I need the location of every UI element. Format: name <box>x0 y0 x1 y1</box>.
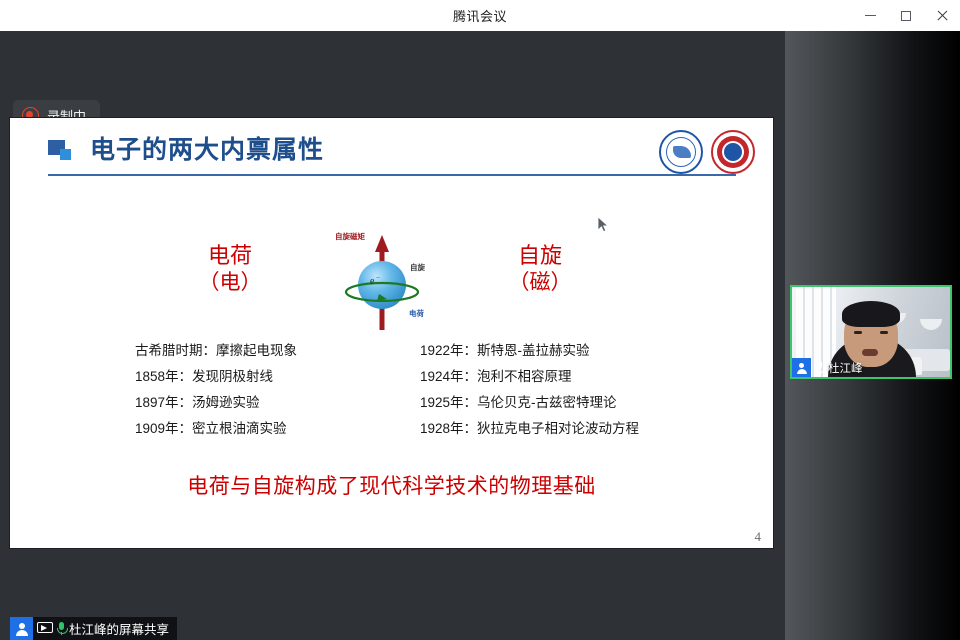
close-button[interactable] <box>924 0 960 31</box>
window-title: 腾讯会议 <box>453 6 507 25</box>
participant-name: 杜江峰 <box>828 360 863 376</box>
slide-conclusion: 电荷与自旋构成了现代科学技术的物理基础 <box>10 470 773 500</box>
video-person-hair <box>842 301 900 327</box>
title-squares-icon <box>48 140 74 162</box>
list-item: 1928年：狄拉克电子相对论波动方程 <box>420 416 639 442</box>
avatar-icon <box>792 358 811 377</box>
electron-spin-diagram: e − 自旋磁矩 自旋 电荷 <box>325 230 455 335</box>
heading-charge-sub: （电） <box>160 270 300 297</box>
microphone-icon[interactable] <box>56 622 67 635</box>
list-item: 1924年：泡利不相容原理 <box>420 364 639 390</box>
meeting-stage: 录制中 电子的两大内禀属性 电荷 （电） <box>0 31 960 640</box>
tencent-meeting-window: 腾讯会议 录制中 <box>0 0 960 640</box>
screen-share-icon <box>37 622 53 635</box>
screen-share-bar[interactable]: 杜江峰的屏幕共享 <box>10 617 177 640</box>
list-item: 1922年：斯特恩-盖拉赫实验 <box>420 338 639 364</box>
label-charge: 电荷 <box>409 308 424 319</box>
title-bar: 腾讯会议 <box>0 0 960 32</box>
shared-slide[interactable]: 电子的两大内禀属性 电荷 （电） 自旋 （磁） <box>10 118 773 548</box>
screen-share-label: 杜江峰的屏幕共享 <box>69 619 177 638</box>
heading-charge: 电荷 （电） <box>160 242 300 297</box>
minimize-button[interactable] <box>852 0 888 31</box>
heading-spin: 自旋 （磁） <box>470 242 610 297</box>
title-square-light <box>60 149 71 160</box>
list-item: 1925年：乌伦贝克-古兹密特理论 <box>420 390 639 416</box>
participant-video-tile[interactable]: 杜江峰 <box>790 285 952 379</box>
video-bg-lamp <box>920 319 942 330</box>
minimize-icon <box>865 15 876 16</box>
institute-logo-red-icon <box>711 130 755 174</box>
title-divider <box>48 174 736 176</box>
list-item: 1909年：密立根油滴实验 <box>135 416 297 442</box>
microphone-icon[interactable] <box>814 361 825 374</box>
video-person-eye <box>854 331 862 334</box>
video-person-eye <box>880 331 888 334</box>
university-logo-blue-icon <box>659 130 703 174</box>
video-person-mouth <box>862 349 878 356</box>
heading-spin-sub: （磁） <box>470 270 610 297</box>
svg-text:e: e <box>370 276 375 287</box>
electron-spin-svg: e − <box>325 230 455 335</box>
label-magnetic-moment: 自旋磁矩 <box>335 231 365 242</box>
slide-header: 电子的两大内禀属性 <box>10 118 773 184</box>
list-item: 1897年：汤姆逊实验 <box>135 390 297 416</box>
heading-charge-main: 电荷 <box>208 243 252 268</box>
slide-page-number: 4 <box>755 529 762 545</box>
heading-spin-main: 自旋 <box>518 243 562 268</box>
maximize-icon <box>901 11 911 21</box>
avatar-icon <box>10 617 33 640</box>
timeline-left: 古希腊时期：摩擦起电现象 1858年：发现阴极射线 1897年：汤姆逊实验 19… <box>135 338 297 442</box>
list-item: 古希腊时期：摩擦起电现象 <box>135 338 297 364</box>
logo-group <box>659 130 755 174</box>
window-controls <box>852 0 960 31</box>
list-item: 1858年：发现阴极射线 <box>135 364 297 390</box>
video-name-bar: 杜江峰 <box>792 358 868 377</box>
maximize-button[interactable] <box>888 0 924 31</box>
slide-title: 电子的两大内禀属性 <box>90 130 324 166</box>
timeline-right: 1922年：斯特恩-盖拉赫实验 1924年：泡利不相容原理 1925年：乌伦贝克… <box>420 338 639 442</box>
close-icon <box>936 10 948 22</box>
svg-text:−: − <box>376 274 380 282</box>
label-spin: 自旋 <box>410 262 425 273</box>
